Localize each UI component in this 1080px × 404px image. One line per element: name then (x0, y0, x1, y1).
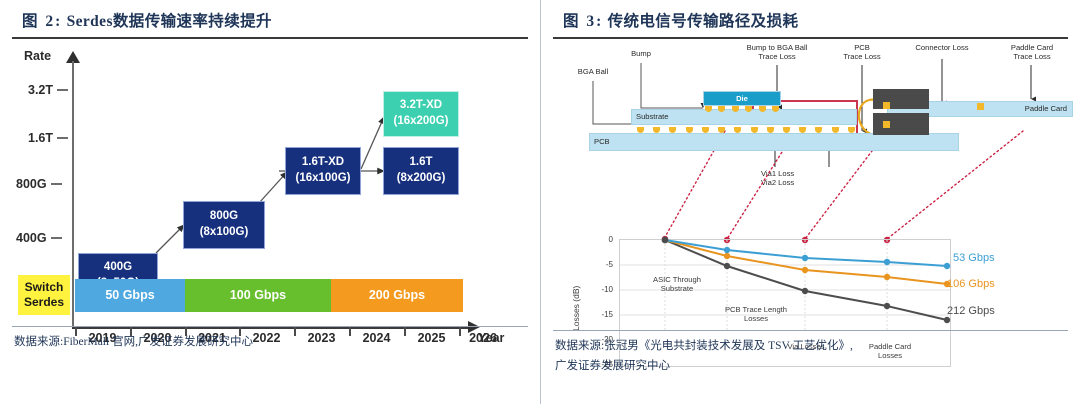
figure-2-panel: 图 2: Serdes数据传输速率持续提升 Rate 3.2T 1.6T 800… (0, 0, 540, 404)
figure-2-title: 图 2: Serdes数据传输速率持续提升 (10, 0, 530, 37)
node-1_6t-xd[interactable]: 1.6T-XD (16x100G) (285, 147, 361, 195)
figure-3-source-line1: 数据来源:张冠男《光电共封装技术发展及 TSV 工艺优化》, (555, 336, 1070, 356)
band-50gbps: 50 Gbps (75, 279, 185, 312)
figure-3-source: 数据来源:张冠男《光电共封装技术发展及 TSV 工艺优化》, 广发证券发展研究中… (551, 331, 1070, 376)
node-3_2t-xd-line1: 3.2T-XD (400, 98, 442, 114)
figure-3-panel: 图 3: 传统电信号传输路径及损耗 BGA Ball Bump Bump to … (540, 0, 1080, 404)
switch-serdes-line1: Switch (25, 280, 64, 295)
band-200gbps: 200 Gbps (331, 279, 463, 312)
node-400g-line1: 400G (104, 260, 132, 276)
serdes-roadmap-chart: Rate 3.2T 1.6T 800G 400G (16, 39, 536, 329)
figure-3-title: 图 3: 传统电信号传输路径及损耗 (551, 0, 1070, 37)
node-1_6t-line2: (8x200G) (397, 171, 446, 187)
y-tick-3_2t: 3.2T (28, 83, 68, 97)
node-800g-line1: 800G (210, 209, 238, 225)
figure-page: 图 2: Serdes数据传输速率持续提升 Rate 3.2T 1.6T 800… (0, 0, 1080, 404)
figure-3-number: 图 3: (563, 13, 603, 30)
y-axis-title: Rate (24, 49, 51, 63)
legend-106-gbps: 106 Gbps (947, 278, 995, 290)
figure-3-source-line2: 广发证券发展研究中心 (555, 356, 1070, 376)
figure-2-source: 数据来源:FiberMall 官网,广发证券发展研究中心 (10, 327, 530, 352)
node-800g[interactable]: 800G (8x100G) (183, 201, 265, 249)
y-tick-1_6t: 1.6T (28, 131, 68, 145)
node-3_2t-xd-line2: (16x200G) (394, 114, 449, 130)
legend-53-gbps: 53 Gbps (953, 252, 995, 264)
node-800g-line2: (8x100G) (200, 225, 249, 241)
switch-serdes-line2: Serdes (24, 295, 64, 310)
figure-3-title-text: 传统电信号传输路径及损耗 (608, 13, 799, 30)
node-3_2t-xd[interactable]: 3.2T-XD (16x200G) (383, 91, 459, 137)
annotation-pcb-trace-length-losses: PCB Trace Length Losses (705, 305, 807, 324)
y-axis-line (72, 61, 74, 329)
figure-2-title-text: Serdes数据传输速率持续提升 (67, 13, 272, 30)
node-1_6t-xd-line1: 1.6T-XD (302, 155, 344, 171)
band-100gbps: 100 Gbps (185, 279, 331, 312)
signal-path-diagram: BGA Ball Bump Bump to BGA Ball Trace Los… (557, 39, 1079, 331)
y-tick-400g: 400G (16, 231, 62, 245)
y-tick-800g: 800G (16, 177, 62, 191)
figure-2-number: 图 2: (22, 13, 62, 30)
legend-212-gbps: 212 Gbps (947, 305, 995, 317)
node-1_6t[interactable]: 1.6T (8x200G) (383, 147, 459, 195)
node-1_6t-xd-line2: (16x100G) (296, 171, 351, 187)
annotation-asic-through-substrate: ASIC Through Substrate (635, 275, 719, 294)
switch-serdes-label: Switch Serdes (18, 275, 70, 315)
node-1_6t-line1: 1.6T (409, 155, 432, 171)
